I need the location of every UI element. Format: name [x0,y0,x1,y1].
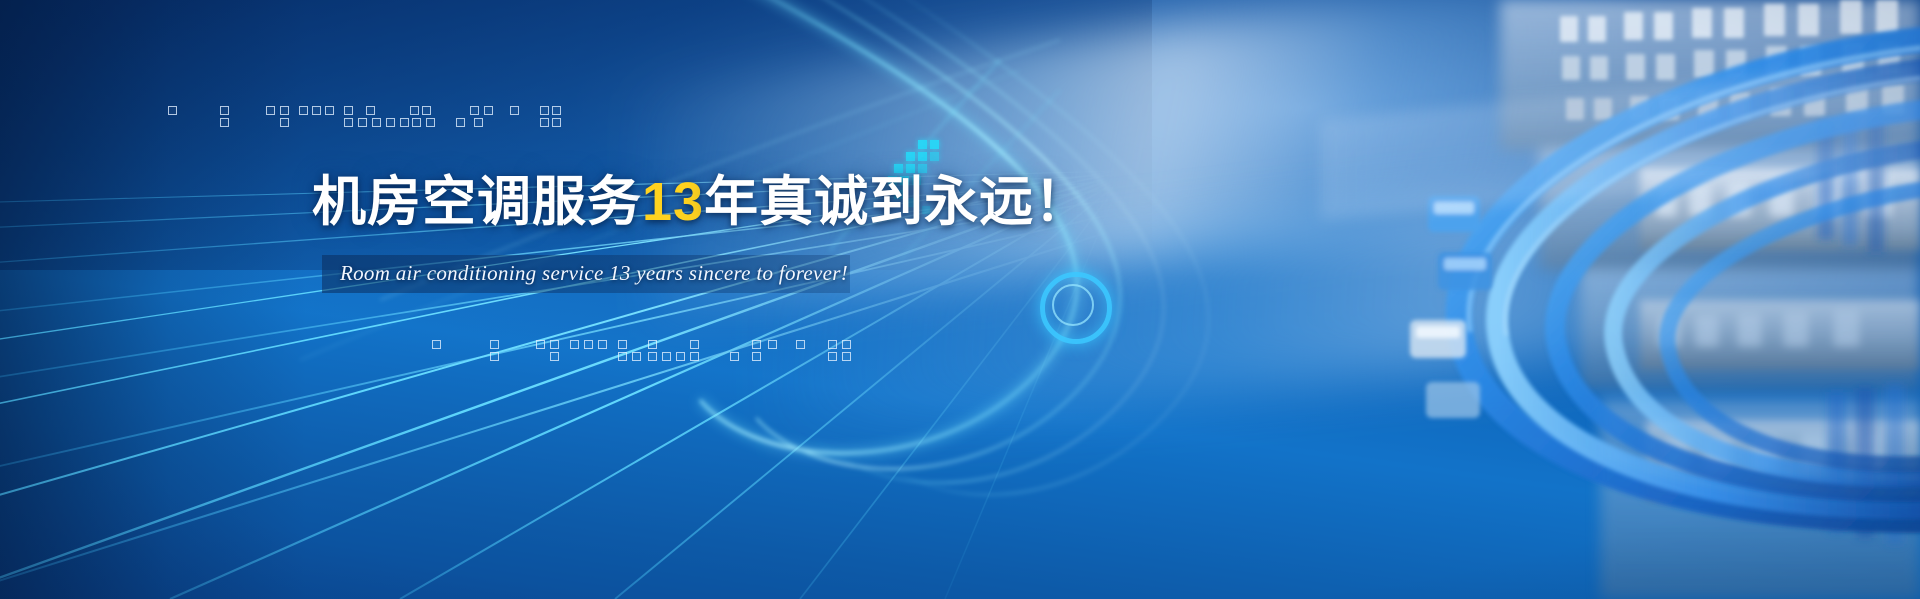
background-vignette [0,0,1920,599]
hero-banner: 机房空调服务13年真诚到永远！ Room air conditioning se… [0,0,1920,599]
